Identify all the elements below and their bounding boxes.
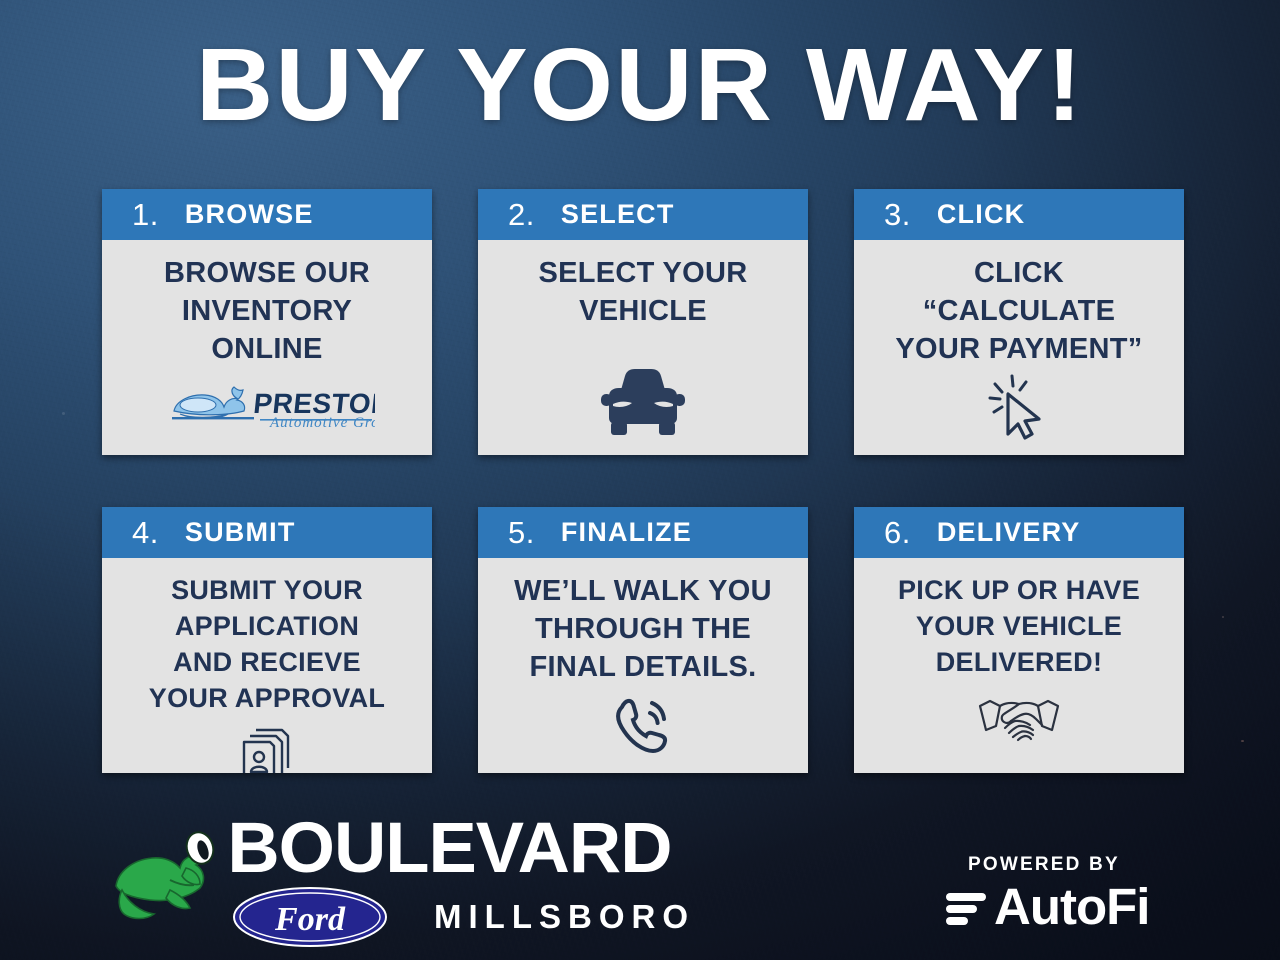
step-card-header: 1. BROWSE	[102, 189, 432, 240]
step-title: CLICK	[937, 201, 1026, 228]
step-card-body: SELECT YOUR VEHICLE	[478, 240, 808, 455]
step-title: SUBMIT	[185, 519, 296, 546]
step-description: CLICK “CALCULATE YOUR PAYMENT”	[895, 254, 1142, 368]
step-number: 4.	[132, 517, 159, 548]
powered-by-label: POWERED BY	[968, 854, 1190, 876]
step-description: BROWSE OUR INVENTORY ONLINE	[164, 254, 370, 368]
handshake-icon	[974, 681, 1064, 759]
step-card-submit: 4. SUBMIT SUBMIT YOUR APPLICATION AND RE…	[102, 507, 432, 773]
step-card-body: PICK UP OR HAVE YOUR VEHICLE DELIVERED!	[854, 558, 1184, 773]
step-card-click: 3. CLICK CLICK “CALCULATE YOUR PAYMENT”	[854, 189, 1184, 455]
step-title: BROWSE	[185, 201, 314, 228]
step-description: PICK UP OR HAVE YOUR VEHICLE DELIVERED!	[898, 572, 1140, 680]
background-speck	[1222, 616, 1224, 618]
car-front-icon	[599, 363, 687, 441]
autofi-wordmark: AutoFi	[994, 882, 1149, 932]
autofi-bars-icon	[944, 885, 990, 929]
background-speck	[62, 412, 65, 415]
step-description: SUBMIT YOUR APPLICATION AND RECIEVE YOUR…	[149, 572, 385, 716]
step-card-body: WE’LL WALK YOU THROUGH THE FINAL DETAILS…	[478, 558, 808, 773]
step-card-select: 2. SELECT SELECT YOUR VEHICLE	[478, 189, 808, 455]
step-number: 2.	[508, 199, 535, 230]
step-card-body: CLICK “CALCULATE YOUR PAYMENT”	[854, 240, 1184, 455]
step-title: SELECT	[561, 201, 675, 228]
mouse-cursor-click-icon	[982, 368, 1056, 446]
step-card-browse: 1. BROWSE BROWSE OUR INVENTORY ONLINE PR…	[102, 189, 432, 455]
step-number: 3.	[884, 199, 911, 230]
autofi-logo: AutoFi	[944, 882, 1190, 932]
application-document-icon	[236, 716, 298, 773]
step-card-header: 3. CLICK	[854, 189, 1184, 240]
flyer-page: BUY YOUR WAY! 1. BROWSE BROWSE OUR INVEN…	[0, 0, 1280, 960]
step-number: 6.	[884, 517, 911, 548]
step-title: FINALIZE	[561, 519, 692, 546]
step-card-header: 5. FINALIZE	[478, 507, 808, 558]
step-card-header: 6. DELIVERY	[854, 507, 1184, 558]
step-card-body: BROWSE OUR INVENTORY ONLINE PRESTON Auto…	[102, 240, 432, 455]
step-card-body: SUBMIT YOUR APPLICATION AND RECIEVE YOUR…	[102, 558, 432, 773]
background-speck	[1241, 740, 1244, 742]
ringing-phone-icon	[610, 686, 676, 764]
dealer-city: MILLSBORO	[434, 898, 695, 936]
step-description: WE’LL WALK YOU THROUGH THE FINAL DETAILS…	[514, 572, 772, 686]
step-card-header: 4. SUBMIT	[102, 507, 432, 558]
dealer-name: BOULEVARD	[227, 816, 699, 882]
ford-logo: Ford	[232, 886, 388, 948]
page-title: BUY YOUR WAY!	[0, 30, 1280, 140]
dealer-branding: BOULEVARD Ford MILLSBORO	[108, 816, 695, 948]
step-description: SELECT YOUR VEHICLE	[538, 254, 747, 330]
dealer-sub-block: Ford MILLSBORO	[232, 886, 695, 948]
preston-automotive-group-logo: PRESTON Automotive Group	[160, 379, 375, 433]
step-number: 5.	[508, 517, 535, 548]
footer: BOULEVARD Ford MILLSBORO POWERED BY	[0, 810, 1280, 960]
dealer-name-block: BOULEVARD Ford MILLSBORO	[232, 816, 695, 948]
step-title: DELIVERY	[937, 519, 1081, 546]
powered-by-autofi: POWERED BY AutoFi	[944, 854, 1190, 932]
steps-grid: 1. BROWSE BROWSE OUR INVENTORY ONLINE PR…	[102, 189, 1184, 773]
step-number: 1.	[132, 199, 159, 230]
step-card-header: 2. SELECT	[478, 189, 808, 240]
step-card-finalize: 5. FINALIZE WE’LL WALK YOU THROUGH THE F…	[478, 507, 808, 773]
svg-text:Automotive Group: Automotive Group	[269, 415, 375, 431]
green-frog-logo	[108, 828, 218, 936]
svg-text:Ford: Ford	[274, 901, 346, 938]
step-card-delivery: 6. DELIVERY PICK UP OR HAVE YOUR VEHICLE…	[854, 507, 1184, 773]
